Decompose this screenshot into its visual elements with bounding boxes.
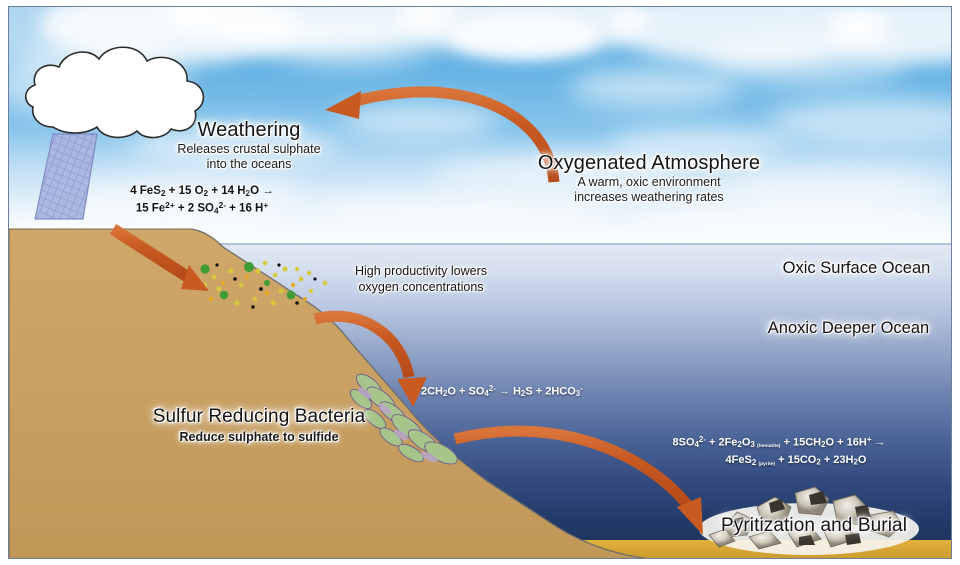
- atmosphere-subtitle-line1: A warm, oxic environment: [514, 175, 784, 190]
- sea-surface-line: [9, 243, 951, 245]
- atmosphere-subtitle-line2: increases weathering rates: [514, 190, 784, 205]
- productivity-note: High productivity lowers oxygen concentr…: [331, 263, 511, 295]
- weathering-label: Weathering Releases crustal sulphate int…: [129, 119, 369, 172]
- bacteria-label: Sulfur Reducing Bacteria Reduce sulphate…: [144, 406, 374, 445]
- pyritization-equation-line2: 4FeS2 (pyrite) + 15CO2 + 23H2O: [663, 454, 929, 467]
- weathering-title: Weathering: [129, 119, 369, 142]
- anoxic-zone-text: Anoxic Deeper Ocean: [751, 319, 946, 338]
- productivity-note-line1: High productivity lowers: [331, 263, 511, 279]
- burial-label: Pyritization and Burial: [699, 515, 929, 537]
- bacteria-title: Sulfur Reducing Bacteria: [144, 406, 374, 428]
- pyritization-equation: 8SO42- + 2Fe2O3 (hematite) + 15CH2O + 16…: [629, 435, 929, 467]
- weathering-equation-line1: 4 FeS2 + 15 O2 + 14 H2O →: [87, 185, 317, 198]
- weathering-equation-line2: 15 Fe2+ + 2 SO42- + 16 H+: [87, 201, 317, 215]
- sulfate-reduction-equation-line1: 2CH2O + SO42- → H2S + 2HCO3-: [421, 384, 621, 398]
- sulfate-reduction-equation: 2CH2O + SO42- → H2S + 2HCO3-: [421, 384, 621, 398]
- weathering-equation: 4 FeS2 + 15 O2 + 14 H2O → 15 Fe2+ + 2 SO…: [87, 185, 317, 215]
- weathering-subtitle-line2: into the oceans: [129, 157, 369, 172]
- diagram-canvas: Weathering Releases crustal sulphate int…: [0, 0, 960, 565]
- burial-title: Pyritization and Burial: [699, 515, 929, 537]
- pyritization-equation-line1: 8SO42- + 2Fe2O3 (hematite) + 15CH2O + 16…: [629, 435, 929, 449]
- anoxic-zone-label: Anoxic Deeper Ocean: [751, 319, 946, 338]
- bacteria-subtitle: Reduce sulphate to sulfide: [144, 430, 374, 445]
- oxic-zone-label: Oxic Surface Ocean: [769, 259, 944, 278]
- seafloor-sediment-band: [9, 540, 951, 559]
- atmosphere-title: Oxygenated Atmosphere: [514, 152, 784, 175]
- weathering-subtitle-line1: Releases crustal sulphate: [129, 142, 369, 157]
- oxic-zone-text: Oxic Surface Ocean: [769, 259, 944, 278]
- diagram-frame: Weathering Releases crustal sulphate int…: [8, 6, 952, 559]
- productivity-note-line2: oxygen concentrations: [331, 279, 511, 295]
- atmosphere-label: Oxygenated Atmosphere A warm, oxic envir…: [514, 152, 784, 205]
